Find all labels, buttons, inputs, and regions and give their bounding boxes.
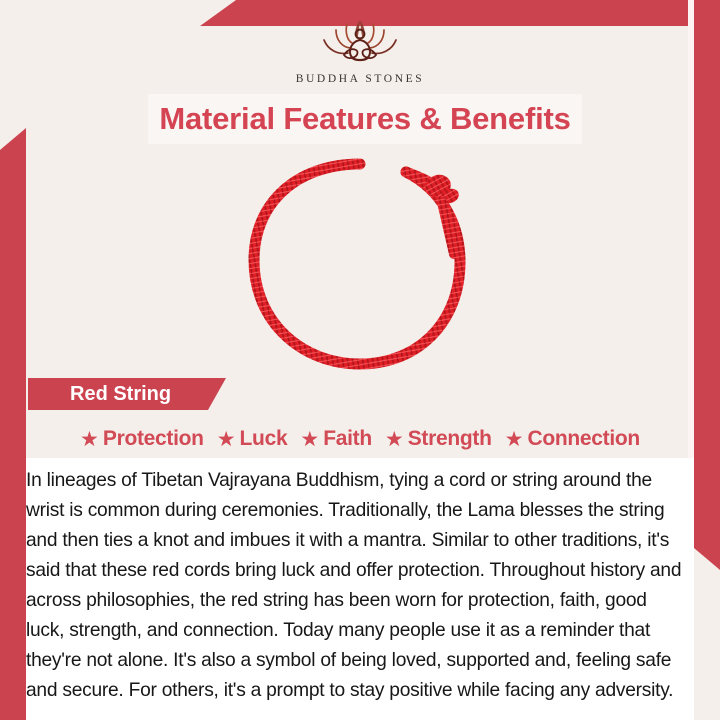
infographic-page: BUDDHA STONES Material Features & Benefi… [0,0,720,720]
benefit-item-connection: ★ Connection [505,427,640,451]
section-label-text: Red String [28,383,171,406]
star-icon: ★ [217,429,236,450]
benefits-list: ★ Protection ★ Luck ★ Faith ★ Strength ★… [26,420,694,458]
decorative-frame-bar-right [694,0,720,570]
star-icon: ★ [80,429,99,450]
product-image-area [26,150,694,378]
description-paragraph: In lineages of Tibetan Vajrayana Buddhis… [26,458,694,706]
benefit-item-strength: ★ Strength [385,427,492,451]
benefit-label: Protection [103,427,204,451]
star-icon: ★ [505,429,524,450]
lotus-meditation-icon [314,14,406,70]
section-label-banner: Red String [28,378,226,410]
brand-logo: BUDDHA STONES [0,14,720,85]
star-icon: ★ [300,429,319,450]
benefit-label: Luck [240,427,288,451]
decorative-frame-bar-left [0,128,26,720]
star-icon: ★ [385,429,404,450]
benefit-label: Strength [408,427,492,451]
red-string-bracelet-image [210,150,510,378]
benefit-label: Faith [323,427,372,451]
page-title-banner: Material Features & Benefits [148,94,582,144]
benefit-label: Connection [527,427,640,451]
page-title: Material Features & Benefits [159,101,570,137]
description-panel: In lineages of Tibetan Vajrayana Buddhis… [26,458,694,720]
brand-wordmark: BUDDHA STONES [0,73,720,85]
benefit-item-protection: ★ Protection [80,427,204,451]
benefit-item-luck: ★ Luck [217,427,288,451]
benefit-item-faith: ★ Faith [300,427,372,451]
